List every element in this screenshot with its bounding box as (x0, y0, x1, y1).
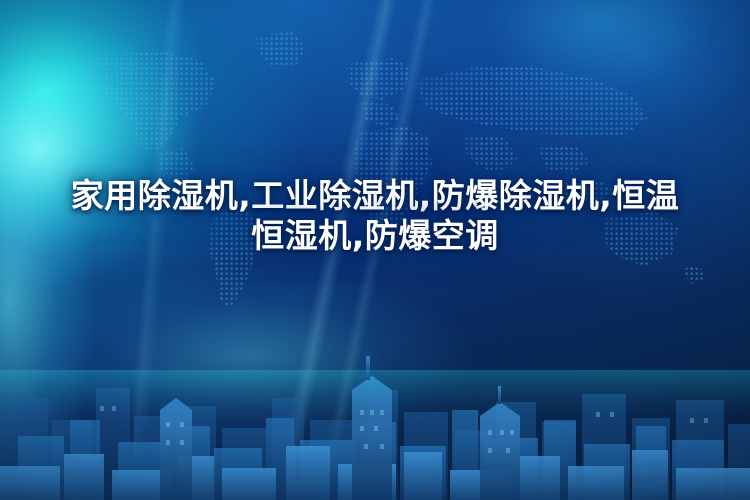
hero-banner: 家用除湿机,工业除湿机,防爆除湿机,恒温恒湿机,防爆空调 (0, 0, 750, 500)
banner-headline: 家用除湿机,工业除湿机,防爆除湿机,恒温恒湿机,防爆空调 (60, 176, 690, 256)
headline-container: 家用除湿机,工业除湿机,防爆除湿机,恒温恒湿机,防爆空调 (0, 176, 750, 256)
